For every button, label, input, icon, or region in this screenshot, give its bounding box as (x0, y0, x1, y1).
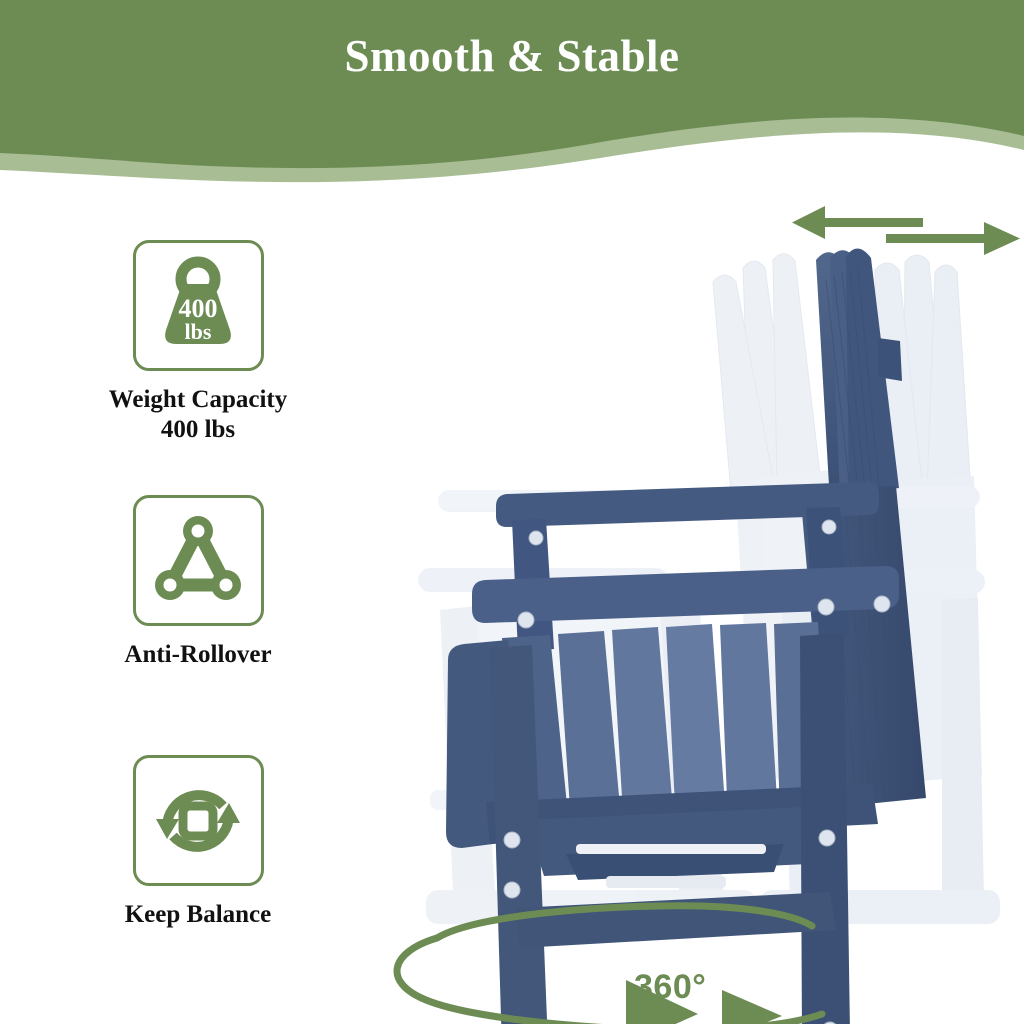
glider-linkage (526, 806, 826, 888)
page-title: Smooth & Stable (0, 30, 1024, 82)
feature-icon-box (133, 495, 264, 626)
rotation-arrowhead-2 (722, 990, 782, 1024)
back-cleat (878, 338, 902, 381)
header-banner: Smooth & Stable (0, 0, 1024, 190)
product-illustration (330, 190, 1024, 1024)
rear-leg (800, 633, 850, 1024)
feature-label-weight-capacity: Weight Capacity 400 lbs (48, 385, 348, 444)
feature-icon-box: 400 lbs (133, 240, 264, 371)
feature-item-weight-capacity: 400 lbs Weight Capacity 400 lbs (48, 240, 348, 444)
feature-icon-box (133, 755, 264, 886)
weight-icon-value-bottom: lbs (185, 319, 212, 344)
glider-chair-graphic (330, 190, 1024, 1024)
feature-item-keep-balance: Keep Balance (48, 755, 348, 930)
weight-400lbs-icon: 400 lbs (146, 254, 250, 358)
rotation-degree-label: 360° (634, 968, 706, 1007)
infographic-page: Smooth & Stable 400 lbs Weight Capacity … (0, 0, 1024, 1024)
banner-wave-shape (0, 0, 1024, 190)
feature-item-anti-rollover: Anti-Rollover (48, 495, 348, 670)
anti-rollover-linkage-icon (148, 513, 248, 609)
banner-wave-dark (0, 0, 1024, 168)
feature-label-anti-rollover: Anti-Rollover (48, 640, 348, 670)
glide-arrow-group (792, 206, 1020, 255)
keep-balance-rotation-icon (147, 771, 249, 871)
feature-label-keep-balance: Keep Balance (48, 900, 348, 930)
